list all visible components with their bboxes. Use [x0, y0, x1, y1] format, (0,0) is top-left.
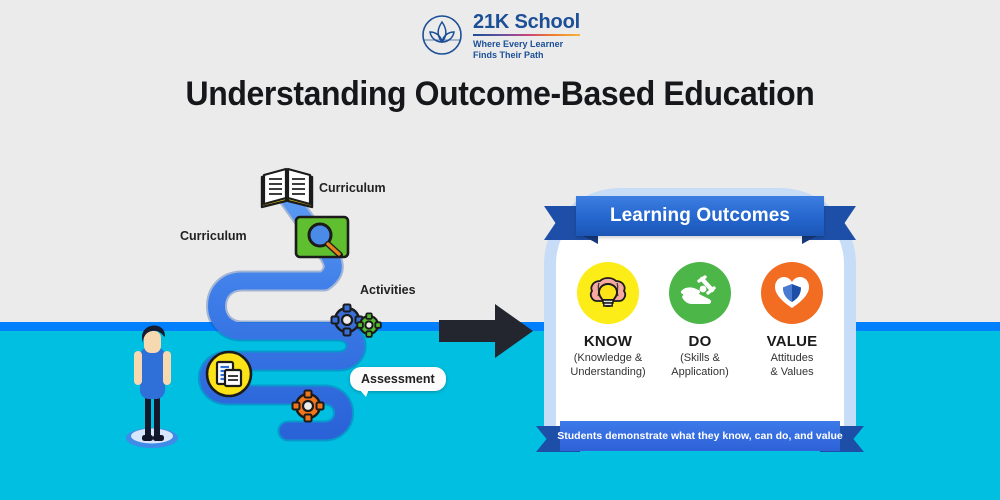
do-title: DO [689, 333, 712, 350]
right-arrow-icon [437, 300, 537, 362]
card-footer-ribbon: Students demonstrate what they know, can… [530, 421, 870, 455]
brand-logo: 21K School Where Every Learner Finds The… [0, 10, 1000, 61]
know-subtitle-line2: Understanding) [570, 366, 645, 380]
student-standing-icon [126, 325, 178, 448]
learning-journey-illustration: Curriculum Curriculum Activities Assessm… [110, 155, 450, 455]
open-book-icon [262, 169, 312, 207]
brand-tagline: Where Every Learner Finds Their Path [473, 39, 580, 61]
brand-name: 21K School [473, 12, 580, 32]
value-icon-circle [761, 262, 823, 324]
do-subtitle-line1: (Skills & [671, 352, 728, 366]
hand-tools-icon [678, 271, 722, 315]
ribbon-title: Learning Outcomes [576, 196, 824, 236]
brain-lightbulb-icon [586, 271, 630, 315]
value-title: VALUE [767, 333, 818, 350]
documents-circle-icon [207, 352, 251, 396]
magnifier-board-icon [296, 217, 348, 257]
lotus-circle-icon [420, 13, 464, 57]
infographic-canvas: 21K School Where Every Learner Finds The… [0, 0, 1000, 500]
outcome-item-know: KNOW (Knowledge & Understanding) [562, 262, 654, 380]
outcome-columns: KNOW (Knowledge & Understanding) [562, 262, 838, 380]
do-icon-circle [669, 262, 731, 324]
know-subtitle: (Knowledge & Understanding) [570, 352, 645, 380]
brand-tagline-line1: Where Every Learner [473, 39, 580, 50]
do-subtitle: (Skills & Application) [671, 352, 728, 380]
page-title: Understanding Outcome-Based Education [30, 75, 970, 114]
brand-gradient-rule [473, 34, 580, 36]
do-subtitle-line2: Application) [671, 366, 728, 380]
know-subtitle-line1: (Knowledge & [570, 352, 645, 366]
value-subtitle-line1: Attitudes [770, 352, 813, 366]
card-ribbon: Learning Outcomes [530, 196, 870, 242]
path-label-curriculum-2: Curriculum [319, 181, 386, 195]
winding-road-icon [110, 155, 450, 455]
path-label-activities: Activities [360, 283, 416, 297]
path-label-assessment: Assessment [350, 367, 446, 391]
value-subtitle: Attitudes & Values [770, 352, 813, 380]
footer-ribbon-text: Students demonstrate what they know, can… [560, 421, 840, 451]
value-subtitle-line2: & Values [770, 366, 813, 380]
brand-tagline-line2: Finds Their Path [473, 50, 580, 61]
know-title: KNOW [584, 333, 632, 350]
heart-shield-icon [770, 271, 814, 315]
outcome-item-value: VALUE Attitudes & Values [746, 262, 838, 380]
outcome-item-do: DO (Skills & Application) [654, 262, 746, 380]
learning-outcomes-card: Learning Outcomes [530, 178, 870, 458]
know-icon-circle [577, 262, 639, 324]
path-label-curriculum-1: Curriculum [180, 229, 247, 243]
